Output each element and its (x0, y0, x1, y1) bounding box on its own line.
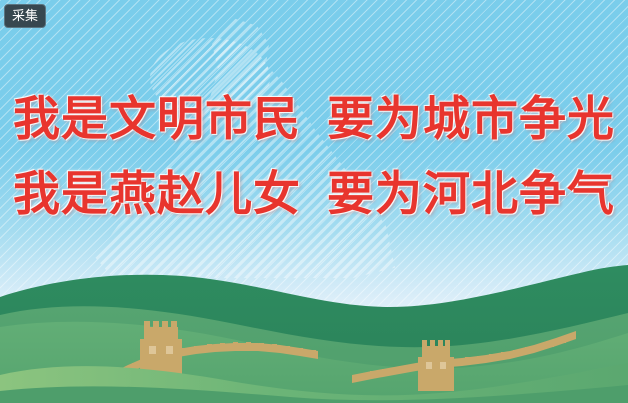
slogan-line-2-left: 我是燕赵儿女 (13, 167, 301, 222)
slogan-line-1: 我是文明市民要为城市争光 (0, 96, 628, 143)
slogan-line-1-right: 要为城市争光 (327, 92, 615, 147)
slogan-line-2: 我是燕赵儿女要为河北争气 (0, 171, 628, 218)
slogan-line-2-right: 要为河北争气 (327, 167, 615, 222)
capture-button[interactable]: 采集 (4, 4, 46, 28)
slogan-block: 我是文明市民要为城市争光 我是燕赵儿女要为河北争气 (0, 96, 628, 218)
banner-screenshot: 我是文明市民要为城市争光 我是燕赵儿女要为河北争气 (0, 0, 628, 403)
slogan-line-1-left: 我是文明市民 (13, 92, 301, 147)
landscape-illustration (0, 263, 628, 403)
